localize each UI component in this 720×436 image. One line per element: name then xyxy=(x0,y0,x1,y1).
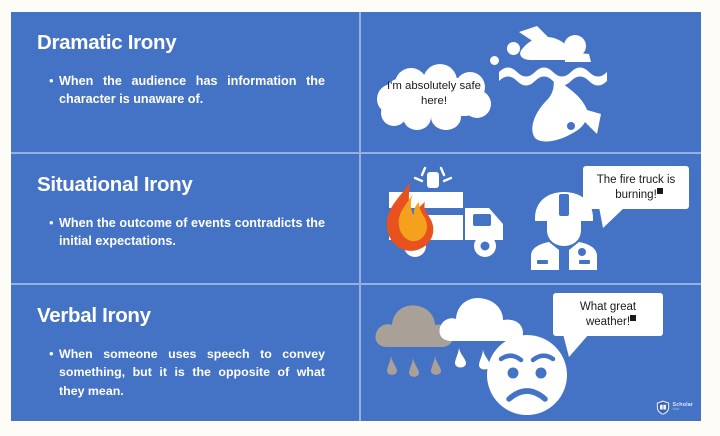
shark-body-icon xyxy=(532,76,601,141)
row-verbal-irony-text: Verbal Irony • When someone uses speech … xyxy=(11,285,361,421)
bullet-marker: • xyxy=(37,345,59,401)
raindrop-icon xyxy=(409,357,419,377)
raindrop-icon xyxy=(431,355,441,375)
bullet-marker: • xyxy=(37,214,59,252)
raindrop-icon xyxy=(387,355,397,375)
swimmer-shark-svg xyxy=(461,18,661,148)
jacket-pocket-icon xyxy=(537,260,548,264)
speech-bubble-tail-icon xyxy=(597,207,627,229)
speech-bubble-text: The fire truck is burning! xyxy=(597,174,676,201)
row-situational-irony-text: Situational Irony • When the outcome of … xyxy=(11,152,361,285)
bullet-dramatic-irony: • When the audience has information the … xyxy=(37,72,341,110)
jacket-pocket-icon xyxy=(579,260,590,264)
swimmer-arm-back-icon xyxy=(565,52,591,62)
bullet-text-situational-irony: When the outcome of events contradicts t… xyxy=(59,214,325,252)
eye-right-icon xyxy=(536,368,547,379)
face-circle-icon xyxy=(487,335,567,415)
logo-subtitle: Hub xyxy=(673,408,693,412)
thought-bubble-text: I'm absolutely safe here! xyxy=(381,79,487,109)
siren-light-icon xyxy=(427,172,439,188)
raindrop-icon xyxy=(455,347,466,368)
truck-wheel-hub-icon xyxy=(481,242,490,251)
burning-fire-truck-scene: The fire truck is burning! xyxy=(361,154,701,283)
speech-bubble-weather: What great weather! xyxy=(553,293,663,336)
eye-left-icon xyxy=(508,368,519,379)
bullet-text-dramatic-irony: When the audience has information the ch… xyxy=(59,72,325,110)
row-dramatic-irony-text: Dramatic Irony • When the audience has i… xyxy=(11,12,361,152)
irony-table: Dramatic Irony • When the audience has i… xyxy=(11,12,701,421)
jacket-zip-icon xyxy=(559,246,569,270)
shield-logo: Scholar Hub xyxy=(656,400,693,415)
bullet-text-verbal-irony: When someone uses speech to convey somet… xyxy=(59,345,325,401)
rainy-weather-scene: What great weather! Scholar Hub xyxy=(361,285,701,421)
heading-dramatic-irony: Dramatic Irony xyxy=(37,32,341,55)
heading-verbal-irony: Verbal Irony xyxy=(37,305,341,328)
shield-icon xyxy=(656,400,670,415)
rain-cloud-gray-icon xyxy=(375,305,453,376)
truck-window-icon xyxy=(473,214,491,226)
jacket-badge-icon xyxy=(578,248,586,256)
bullet-situational-irony: • When the outcome of events contradicts… xyxy=(37,214,341,252)
slide-canvas: Dramatic Irony • When the audience has i… xyxy=(11,12,701,421)
water-waves-icon xyxy=(499,68,607,86)
logo-wordmark: Scholar Hub xyxy=(673,403,693,412)
row-dramatic-irony-art: I'm absolutely safe here! xyxy=(361,12,701,152)
speech-bubble-text: What great weather! xyxy=(580,301,636,328)
bullet-marker: • xyxy=(37,72,59,110)
bullet-verbal-irony: • When someone uses speech to convey som… xyxy=(37,345,341,401)
row-verbal-irony-art: What great weather! Scholar Hub xyxy=(361,285,701,421)
swimmer-shark-scene: I'm absolutely safe here! xyxy=(361,12,701,152)
face-icon xyxy=(547,218,581,246)
row-situational-irony-art: The fire truck is burning! xyxy=(361,152,701,285)
swimmer-and-shark-group xyxy=(461,18,661,148)
sad-face-svg xyxy=(483,331,571,419)
helmet-crest-icon xyxy=(559,194,569,216)
shark-eye-icon xyxy=(567,122,575,130)
speech-bubble-fire-truck: The fire truck is burning! xyxy=(583,166,689,209)
sad-face-icon xyxy=(483,331,571,419)
heading-situational-irony: Situational Irony xyxy=(37,174,341,197)
speech-bubble-tail-icon xyxy=(561,334,591,358)
